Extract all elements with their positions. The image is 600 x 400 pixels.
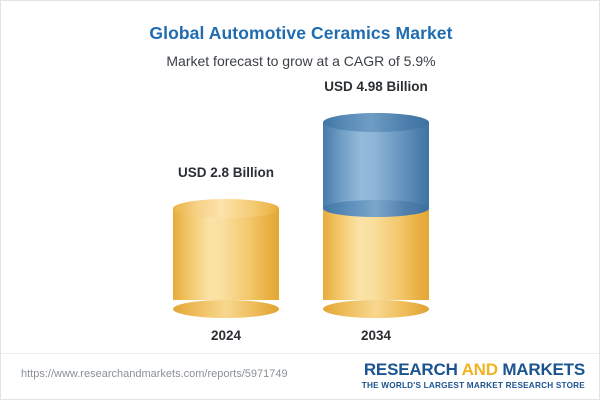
cylinder-bottom-cap-2034 bbox=[323, 300, 429, 318]
research-and-markets-logo[interactable]: RESEARCH AND MARKETS THE WORLD'S LARGEST… bbox=[362, 361, 585, 390]
cylinder-top-cap-2024 bbox=[173, 199, 279, 218]
bar-value-label-2024: USD 2.8 Billion bbox=[178, 165, 274, 180]
cylinder-body-base-2024 bbox=[173, 208, 279, 300]
logo-word-and: AND bbox=[462, 360, 498, 379]
bar-group-2034: USD 4.98 Billion 2034 bbox=[323, 113, 429, 309]
cylinder-2024 bbox=[173, 199, 279, 309]
cylinder-body-growth-2034 bbox=[323, 122, 429, 209]
logo-wordmark: RESEARCH AND MARKETS bbox=[362, 361, 585, 380]
cylinder-bottom-cap-2024 bbox=[173, 300, 279, 318]
bar-group-2024: USD 2.8 Billion 2024 bbox=[173, 199, 279, 309]
category-label-2024: 2024 bbox=[211, 328, 241, 343]
source-url[interactable]: https://www.researchandmarkets.com/repor… bbox=[21, 368, 288, 380]
bar-value-label-2034: USD 4.98 Billion bbox=[324, 79, 428, 94]
chart-card: Global Automotive Ceramics Market Market… bbox=[0, 0, 600, 400]
logo-word-markets: MARKETS bbox=[502, 360, 585, 379]
cylinder-2034 bbox=[323, 113, 429, 309]
chart-plot-area: USD 2.8 Billion 2024 USD 4.98 Billion bbox=[1, 1, 600, 353]
cylinder-body-base-2034 bbox=[323, 209, 429, 300]
logo-tagline: THE WORLD'S LARGEST MARKET RESEARCH STOR… bbox=[362, 381, 585, 390]
logo-word-research: RESEARCH bbox=[364, 360, 458, 379]
cylinder-top-cap-2034 bbox=[323, 113, 429, 132]
category-label-2034: 2034 bbox=[361, 328, 391, 343]
footer: https://www.researchandmarkets.com/repor… bbox=[1, 353, 600, 400]
cylinder-segment-seam-2034 bbox=[323, 200, 429, 217]
